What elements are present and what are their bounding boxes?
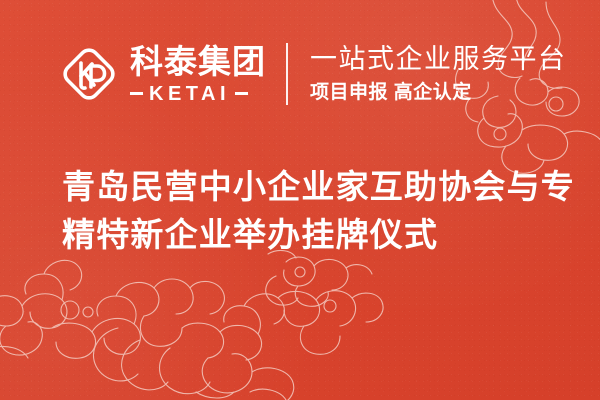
slogan-main-text: 一站式企业服务平台 [310,44,567,76]
title-line-2: 精特新企业举办挂牌仪式 [62,211,562,259]
cloud-left-bottom [0,260,383,360]
dash-right-icon [235,92,248,95]
ketai-diamond-logo-icon [58,43,120,105]
brand-lockup: 科泰集团 KETAI [58,43,266,105]
dash-left-icon [130,92,143,95]
brand-name-en: KETAI [149,84,230,104]
page-title: 青岛民营中小企业家互助协会与专 精特新企业举办挂牌仪式 [62,163,562,259]
brand-name-cn: 科泰集团 [130,44,266,81]
promotional-banner: 科泰集团 KETAI 一站式企业服务平台 项目申报 高企认定 青岛民营中小企业家… [0,0,600,400]
cloud-ribbon-trail [93,328,293,400]
title-line-1: 青岛民营中小企业家互助协会与专 [62,163,562,211]
brand-name-en-row: KETAI [130,84,266,104]
banner-header: 科泰集团 KETAI 一站式企业服务平台 项目申报 高企认定 [0,28,600,120]
slogan-block: 一站式企业服务平台 项目申报 高企认定 [310,44,567,105]
brand-wordmark: 科泰集团 KETAI [130,44,266,104]
slogan-sub-text: 项目申报 高企认定 [310,82,567,105]
vertical-divider [286,43,288,105]
